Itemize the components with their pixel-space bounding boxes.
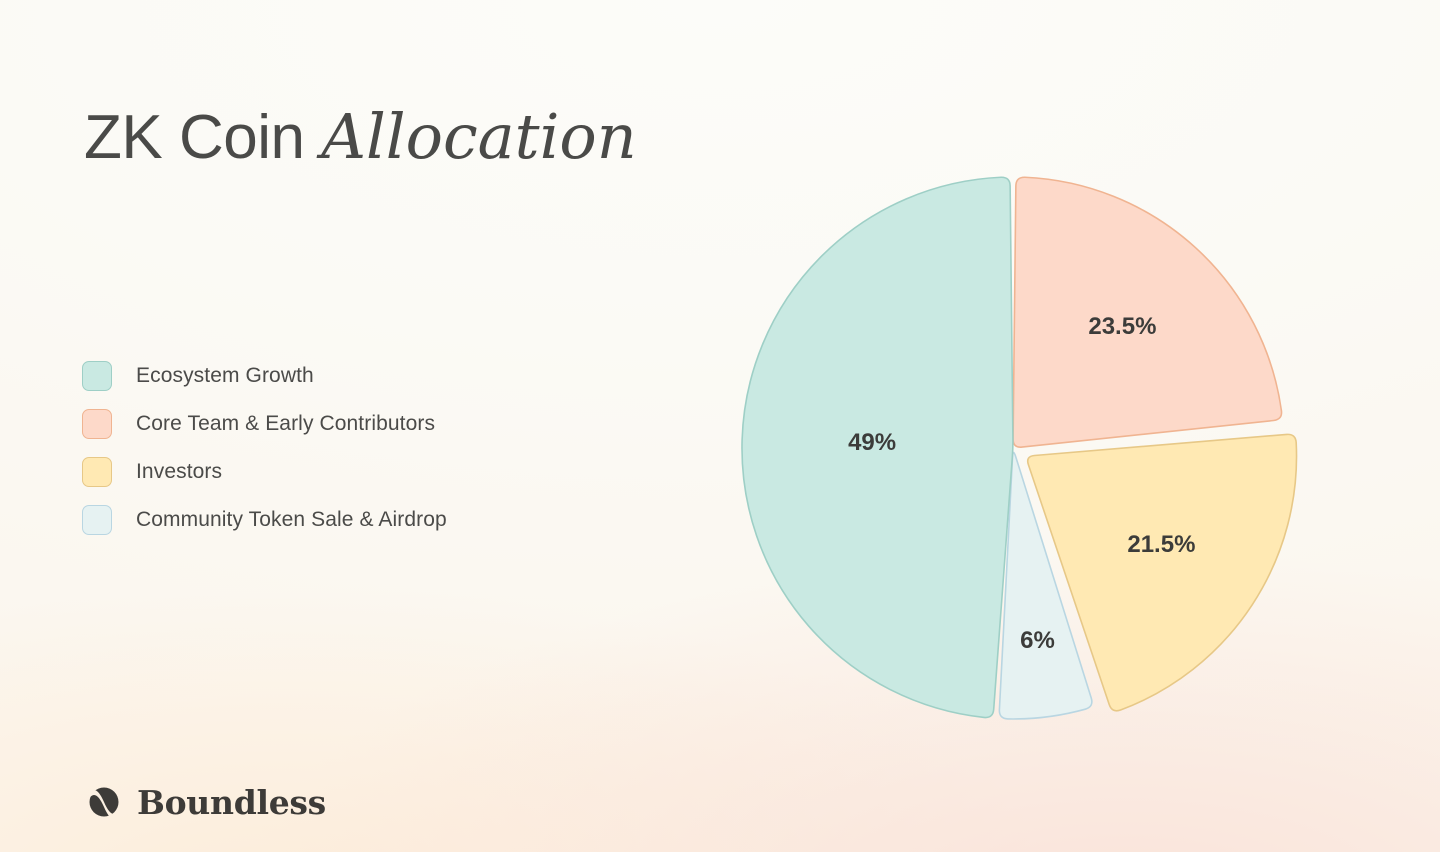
- boundless-logo-icon: [84, 782, 124, 822]
- pie-slice-label: 23.5%: [1088, 313, 1156, 340]
- chart-legend: Ecosystem Growth Core Team & Early Contr…: [82, 352, 642, 544]
- pie-chart: 23.5%21.5%6%49%: [700, 120, 1360, 780]
- brand-name-text: Boundless: [137, 783, 326, 822]
- legend-swatch-ecosystem-growth: [82, 361, 112, 391]
- legend-item-community[interactable]: Community Token Sale & Airdrop: [82, 496, 642, 544]
- title-main-text: ZK Coin: [84, 103, 321, 172]
- legend-label-investors: Investors: [136, 460, 222, 484]
- legend-swatch-investors: [82, 457, 112, 487]
- legend-label-community: Community Token Sale & Airdrop: [136, 508, 447, 532]
- legend-item-ecosystem-growth[interactable]: Ecosystem Growth: [82, 352, 642, 400]
- pie-chart-svg: 23.5%21.5%6%49%: [700, 120, 1360, 780]
- page-title: ZK Coin Allocation: [84, 97, 637, 178]
- pie-slice-label: 49%: [848, 429, 896, 456]
- legend-item-core-team[interactable]: Core Team & Early Contributors: [82, 400, 642, 448]
- title-emphasis-text: Allocation: [321, 100, 636, 173]
- legend-swatch-core-team: [82, 409, 112, 439]
- legend-item-investors[interactable]: Investors: [82, 448, 642, 496]
- brand-logo: Boundless: [84, 782, 326, 822]
- slide-canvas: ZK Coin Allocation Ecosystem Growth Core…: [0, 0, 1440, 852]
- legend-label-core-team: Core Team & Early Contributors: [136, 412, 435, 436]
- pie-slice-label: 6%: [1020, 627, 1055, 654]
- legend-swatch-community: [82, 505, 112, 535]
- legend-label-ecosystem-growth: Ecosystem Growth: [136, 364, 314, 388]
- pie-slice-label: 21.5%: [1127, 531, 1195, 558]
